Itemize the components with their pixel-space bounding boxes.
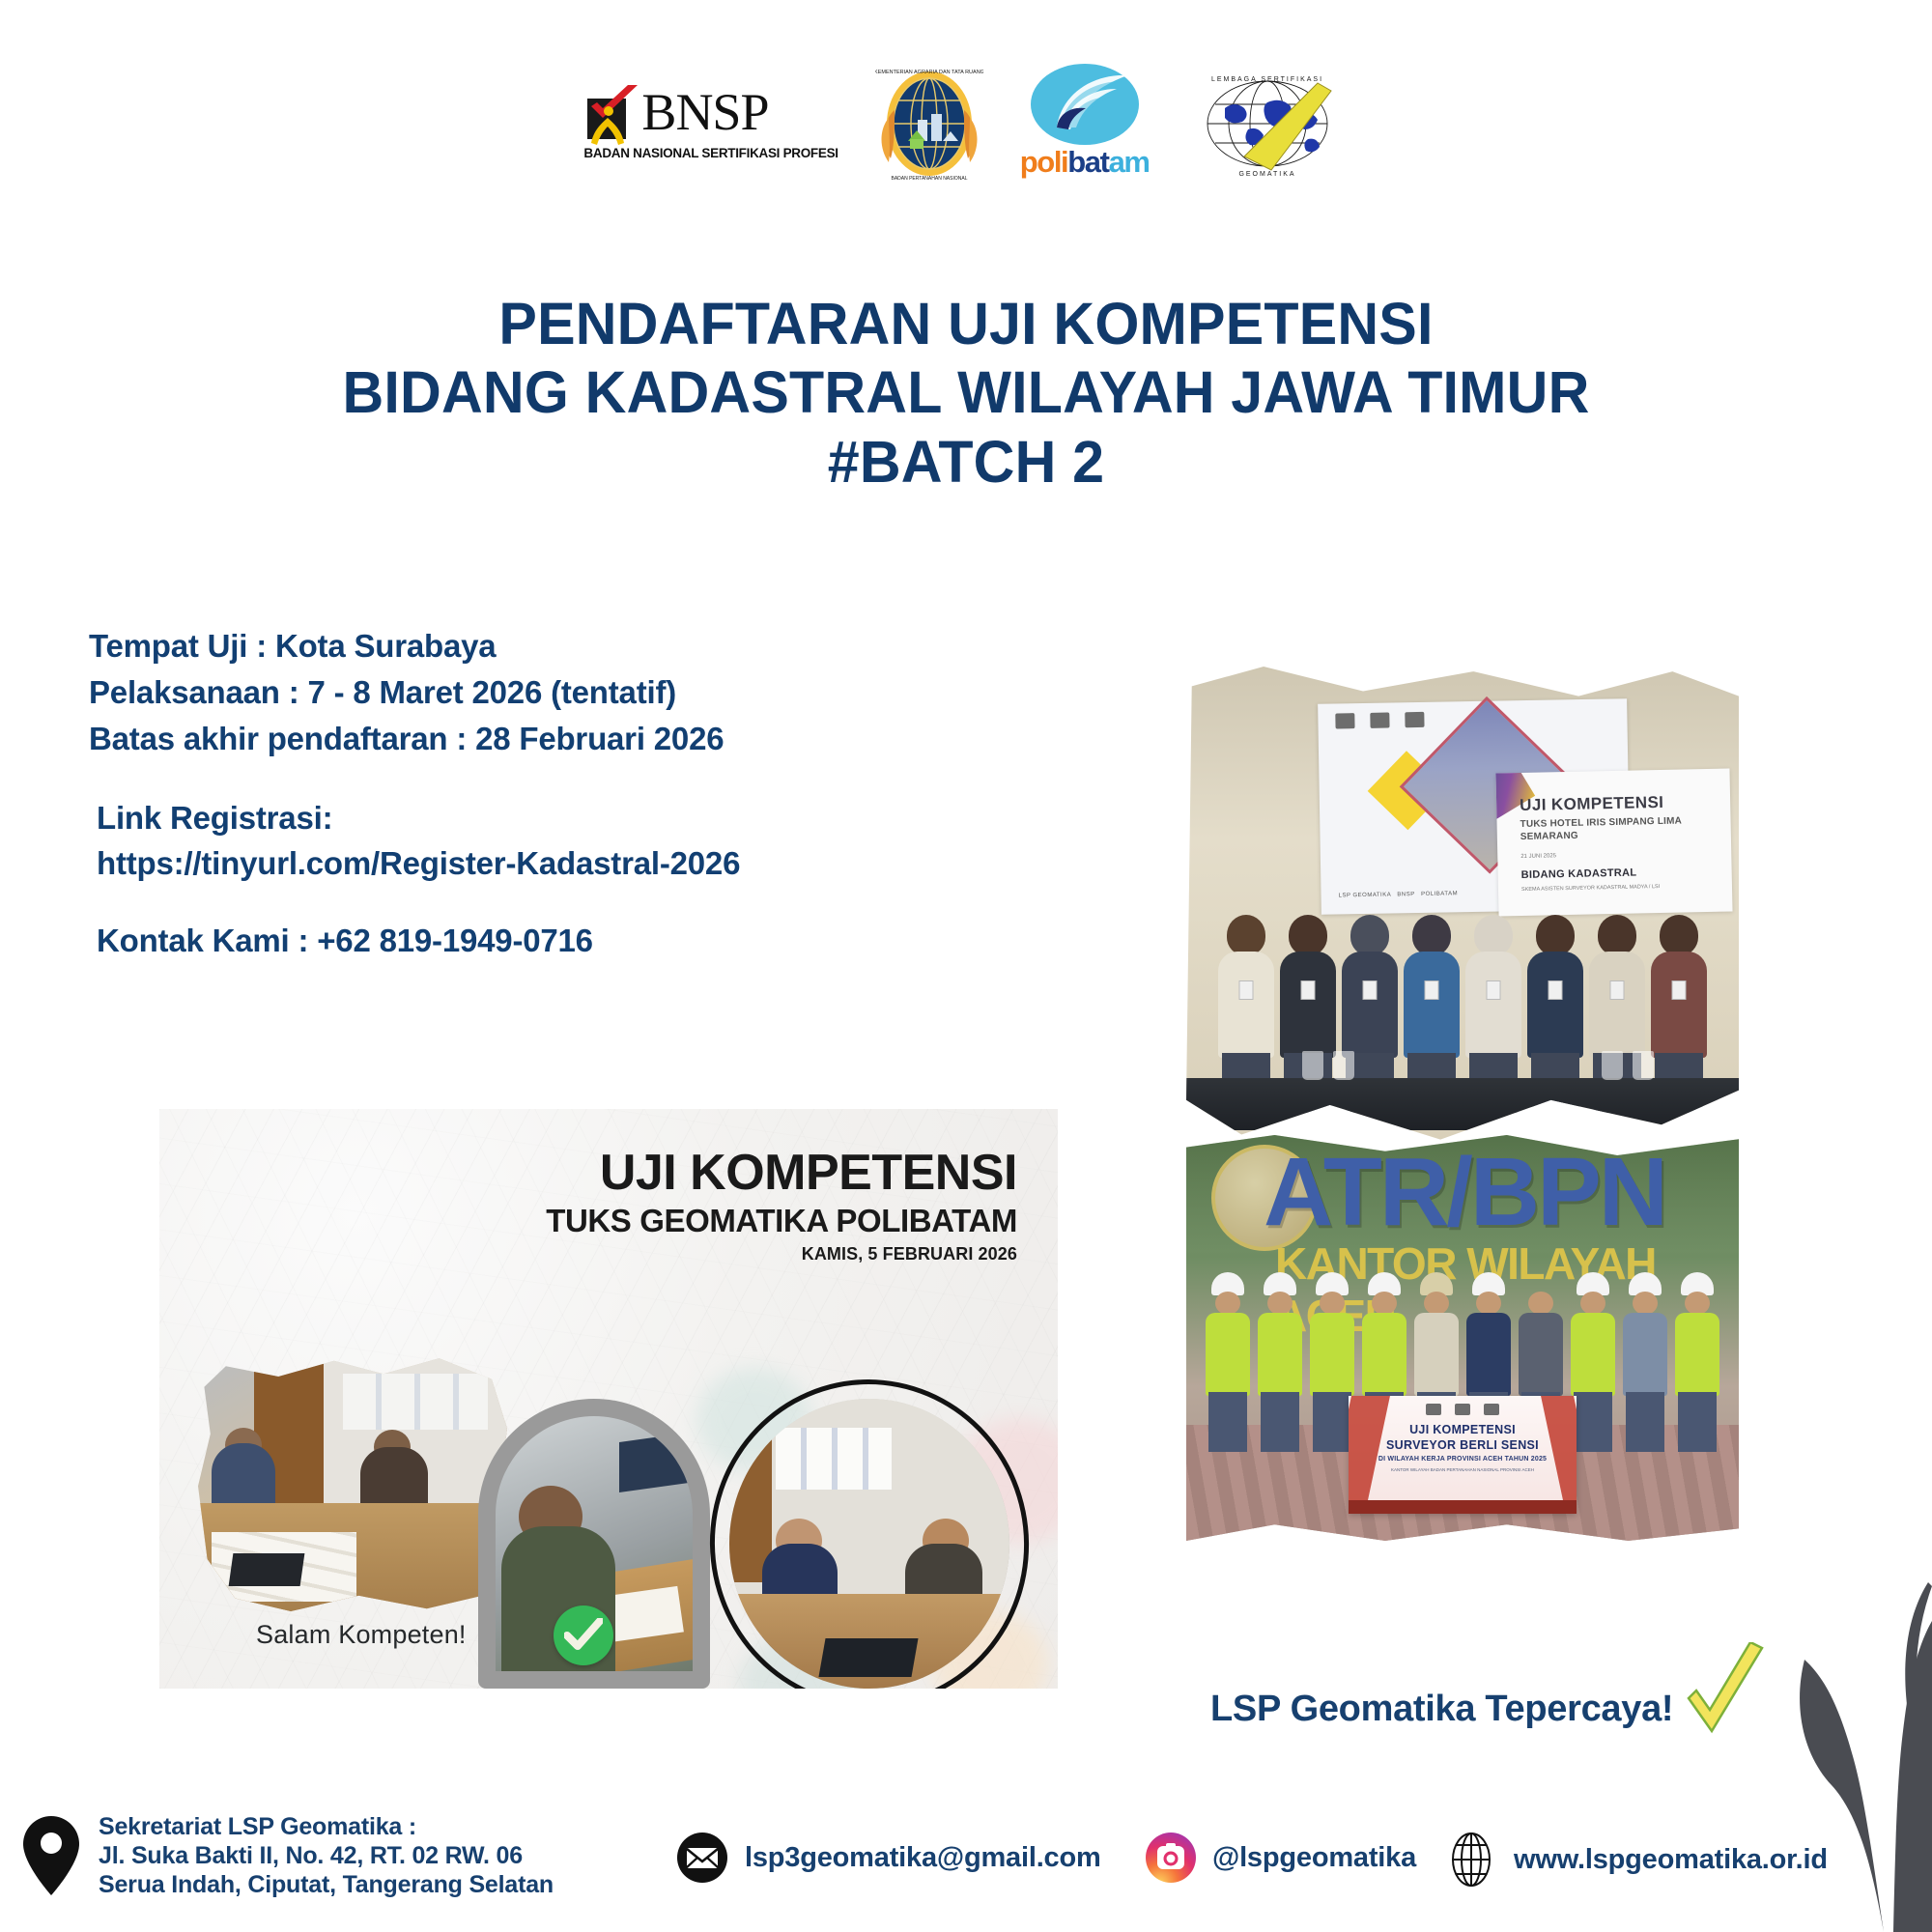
bnsp-logo: BNSP BADAN NASIONAL SERTIFIKASI PROFESI (583, 83, 838, 160)
svg-text:KEMENTERIAN AGRARIA DAN TATA R: KEMENTERIAN AGRARIA DAN TATA RUANG (875, 70, 983, 75)
left-card-headline: UJI KOMPETENSI (546, 1148, 1017, 1198)
polibatam-mark-icon (1028, 64, 1142, 149)
tagline-text: LSP Geomatika Tepercaya! (1210, 1689, 1673, 1730)
location-pin-icon (21, 1814, 81, 1897)
photo-people-row (1186, 871, 1739, 1113)
page-title: PENDAFTARAN UJI KOMPETENSI BIDANG KADAST… (29, 290, 1903, 497)
glass-icon (1302, 1051, 1323, 1080)
svg-text:BADAN PERTANAHAN NASIONAL: BADAN PERTANAHAN NASIONAL (891, 176, 967, 182)
glass-icon (1333, 1051, 1354, 1080)
event-info-block: Tempat Uji : Kota Surabaya Pelaksanaan :… (89, 623, 740, 964)
info-batas-akhir: Batas akhir pendaftaran : 28 Februari 20… (89, 716, 740, 762)
title-line-1: PENDAFTARAN UJI KOMPETENSI (29, 290, 1903, 358)
info-link-label: Link Registrasi: (89, 795, 740, 841)
footer-instagram-text[interactable]: @lspgeomatika (1212, 1842, 1416, 1874)
svg-text:GEOMATIKA: GEOMATIKA (1238, 171, 1295, 178)
registration-link[interactable]: https://tinyurl.com/Register-Kadastral-2… (89, 840, 740, 887)
banner-venue: TUKS HOTEL IRIS SIMPANG LIMASEMARANG (1520, 816, 1682, 844)
glass-icon (1602, 1051, 1623, 1080)
footer-instagram[interactable]: @lspgeomatika (1145, 1832, 1416, 1884)
polibatam-word-p1: poli (1020, 145, 1068, 179)
footer-address-text: Sekretariat LSP Geomatika : Jl. Suka Bak… (99, 1812, 554, 1899)
footer-bar: Sekretariat LSP Geomatika : Jl. Suka Bak… (0, 1787, 1932, 1932)
bnsp-subtitle: BADAN NASIONAL SERTIFIKASI PROFESI (583, 146, 838, 160)
poster-canvas: BNSP BADAN NASIONAL SERTIFIKASI PROFESI (0, 0, 1932, 1932)
banner-date: 21 JUNI 2025 (1520, 853, 1556, 860)
logo-bar: BNSP BADAN NASIONAL SERTIFIKASI PROFESI (0, 56, 1932, 186)
info-kontak[interactable]: Kontak Kami : +62 819-1949-0716 (89, 918, 740, 964)
bnsp-figure-icon (591, 118, 624, 145)
title-line-2: BIDANG KADASTRAL WILAYAH JAWA TIMUR (29, 358, 1903, 427)
photo-assessment-room (198, 1350, 507, 1611)
footer-email-text[interactable]: lsp3geomatika@gmail.com (745, 1842, 1101, 1874)
footer-email[interactable]: lsp3geomatika@gmail.com (676, 1832, 1101, 1884)
globe-icon (1444, 1832, 1498, 1888)
check-glyph-icon (564, 1618, 603, 1653)
footer-address-line-2: Jl. Suka Bakti II, No. 42, RT. 02 RW. 06 (99, 1841, 554, 1870)
left-card-heading: UJI KOMPETENSI TUKS GEOMATIKA POLIBATAM … (546, 1148, 1017, 1263)
left-card-subheadline: TUKS GEOMATIKA POLIBATAM (546, 1205, 1017, 1236)
svg-text:LEMBAGA SERTIFIKASI: LEMBAGA SERTIFIKASI (1211, 76, 1323, 83)
bnsp-wordmark: BNSP (641, 88, 768, 137)
banner-title: UJI KOMPETENSI (1520, 793, 1664, 815)
info-tempat-uji: Tempat Uji : Kota Surabaya (89, 623, 740, 669)
spanduk-line-4: KANTOR WILAYAH BADAN PERTANAHAN NASIONAL… (1349, 1467, 1577, 1472)
polibatam-word-p3: am (1109, 145, 1150, 179)
green-check-icon (554, 1605, 613, 1665)
photo-handshake (729, 1399, 1009, 1689)
footer-address-line-1: Sekretariat LSP Geomatika : (99, 1812, 554, 1841)
email-icon (676, 1832, 728, 1884)
atr-bpn-emblem-icon: KEMENTERIAN AGRARIA DAN TATA RUANG BADAN… (875, 60, 983, 184)
spanduk-line-2: SURVEYOR BERLI SENSI (1349, 1438, 1577, 1452)
footer-website[interactable]: www.lspgeomatika.or.id (1444, 1832, 1828, 1888)
spanduk-line-1: UJI KOMPETENSI (1349, 1423, 1577, 1436)
info-pelaksanaan: Pelaksanaan : 7 - 8 Maret 2026 (tentatif… (89, 669, 740, 716)
title-line-3: #BATCH 2 (29, 428, 1903, 497)
polibatam-wordmark: polibatam (1020, 145, 1150, 180)
footer-website-text[interactable]: www.lspgeomatika.or.id (1514, 1844, 1828, 1876)
footer-address-line-3: Serua Indah, Ciputat, Tangerang Selatan (99, 1870, 554, 1899)
photo-group-aceh: ATR/BPN KANTOR WILAYAH ACEH UJI KOMPETEN… (1186, 1135, 1739, 1541)
bnsp-mark-icon (583, 83, 638, 143)
photo-table-front (1186, 1078, 1739, 1130)
lsp-geomatika-logo: LEMBAGA SERTIFIKASI GEOMATIKA (1186, 64, 1349, 180)
glass-icon (1633, 1051, 1654, 1080)
photo-group-semarang: LSP GEOMATIKA BNSP POLIBATAM UJI KOMPETE… (1186, 667, 1739, 1159)
polibatam-word-p2: bat (1067, 145, 1108, 179)
salam-kompeten-text: Salam Kompeten! (256, 1620, 467, 1650)
atr-bpn-sign-text: ATR/BPN (1264, 1137, 1665, 1248)
atr-bpn-logo: KEMENTERIAN AGRARIA DAN TATA RUANG BADAN… (875, 60, 983, 184)
spanduk-line-3: DI WILAYAH KERJA PROVINSI ACEH TAHUN 202… (1349, 1456, 1577, 1463)
left-photo-card: UJI KOMPETENSI TUKS GEOMATIKA POLIBATAM … (159, 1109, 1058, 1689)
lsp-globe-check-icon: LEMBAGA SERTIFIKASI GEOMATIKA (1186, 64, 1349, 180)
instagram-icon (1145, 1832, 1197, 1884)
polibatam-logo: polibatam (1020, 64, 1150, 180)
left-card-date: KAMIS, 5 FEBRUARI 2026 (546, 1245, 1017, 1263)
spanduk-banner: UJI KOMPETENSI SURVEYOR BERLI SENSI DI W… (1349, 1396, 1577, 1514)
footer-address: Sekretariat LSP Geomatika : Jl. Suka Bak… (21, 1812, 554, 1899)
